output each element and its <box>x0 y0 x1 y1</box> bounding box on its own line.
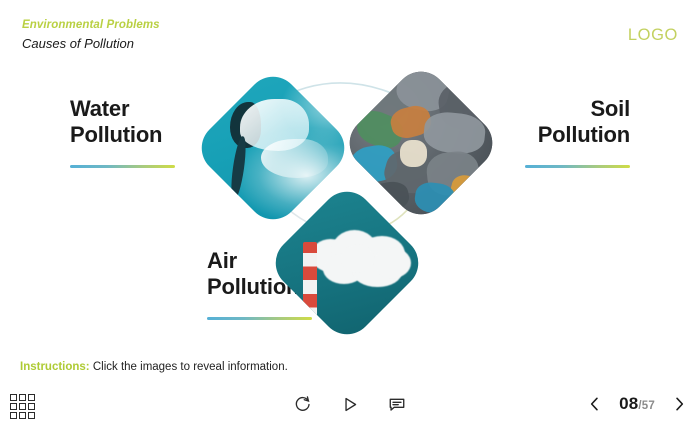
instructions-label: Instructions: <box>20 361 90 373</box>
grid-cell <box>10 403 17 410</box>
logo: LOGO <box>628 26 678 45</box>
slide-subtitle: Causes of Pollution <box>22 35 678 53</box>
water-highlight-shape <box>261 139 328 179</box>
label-water-underline <box>70 165 175 168</box>
label-soil-underline <box>525 165 630 168</box>
grid-cell <box>28 403 35 410</box>
course-title: Environmental Problems <box>22 18 678 33</box>
grid-cell <box>10 394 17 401</box>
media-controls <box>294 395 407 414</box>
label-water-line2: Pollution <box>70 122 162 147</box>
instructions: Instructions: Click the images to reveal… <box>20 360 288 375</box>
plastic-bag-tail-shape <box>229 135 248 200</box>
chevron-left-icon[interactable] <box>586 394 603 414</box>
label-water-line1: Water <box>70 96 129 121</box>
pollution-diagram <box>205 68 495 323</box>
grid-cell <box>28 394 35 401</box>
slide-header: Environmental Problems Causes of Polluti… <box>22 18 678 62</box>
instructions-text: Click the images to reveal information. <box>93 361 288 373</box>
total-pages: /57 <box>638 400 655 412</box>
chevron-right-icon[interactable] <box>671 394 688 414</box>
smoke-puff <box>374 248 410 278</box>
play-icon[interactable] <box>341 395 360 414</box>
soil-pollution-image <box>345 67 497 219</box>
grid-menu-icon[interactable] <box>10 394 35 419</box>
air-pollution-image <box>271 187 423 339</box>
grid-cell <box>19 412 26 419</box>
label-soil-line2: Pollution <box>538 122 630 147</box>
trash-blob <box>400 140 427 167</box>
pagination: 08/57 <box>586 394 688 414</box>
captions-icon[interactable] <box>388 395 407 414</box>
page-indicator: 08/57 <box>619 394 655 414</box>
grid-cell <box>28 412 35 419</box>
slide-canvas: Environmental Problems Causes of Polluti… <box>0 0 700 430</box>
trash-blob <box>449 173 488 208</box>
current-page: 08 <box>619 394 638 413</box>
grid-cell <box>10 412 17 419</box>
smokestack-shape <box>303 242 317 327</box>
grid-cell <box>19 403 26 410</box>
player-bottom-bar: 08/57 <box>0 388 700 430</box>
label-soil-line1: Soil <box>590 96 630 121</box>
replay-icon[interactable] <box>294 395 313 414</box>
grid-cell <box>19 394 26 401</box>
